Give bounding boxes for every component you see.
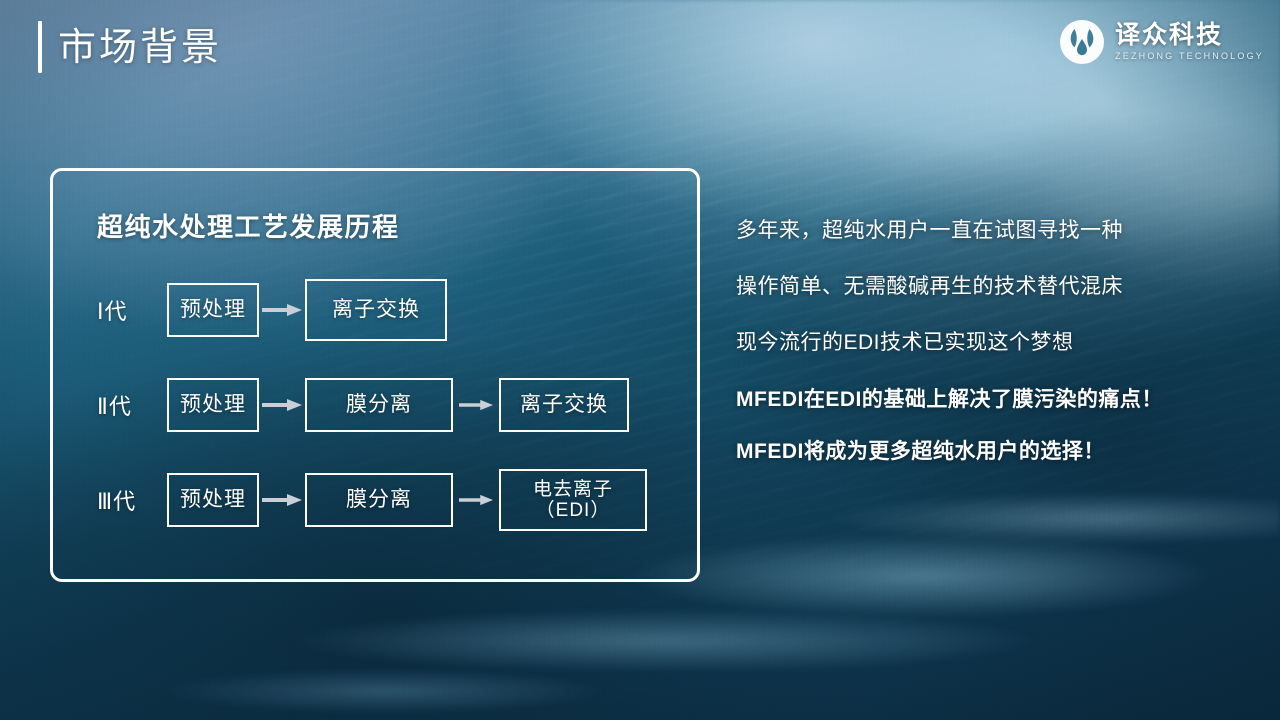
arrow-icon [259, 301, 305, 319]
logo-wordmark: 译众科技 ZEZHONG TECHNOLOGY [1115, 23, 1264, 61]
arrow-icon [259, 491, 305, 509]
company-logo: 译众科技 ZEZHONG TECHNOLOGY [1058, 18, 1264, 66]
panel-heading: 超纯水处理工艺发展历程 [97, 207, 400, 244]
page-title: 市场背景 [58, 22, 222, 74]
body-line-3: 现今流行的EDI技术已实现这个梦想 [736, 330, 1256, 355]
arrow-icon [259, 396, 305, 414]
generation-label-3: Ⅲ代 [97, 484, 167, 516]
body-text-block: 多年来，超纯水用户一直在试图寻找一种 操作简单、无需酸碱再生的技术替代混床 现今… [736, 218, 1256, 491]
node-ion-exchange-1: 离子交换 [305, 279, 447, 341]
arrow-icon [453, 491, 499, 509]
body-line-5: MFEDI将成为更多超纯水用户的选择！ [736, 439, 1256, 464]
node-pretreatment-1: 预处理 [167, 283, 259, 337]
flow-row-gen1: Ⅰ代 预处理 离子交换 [53, 275, 697, 345]
process-history-panel: 超纯水处理工艺发展历程 Ⅰ代 预处理 离子交换 Ⅱ代 预处理 膜分离 [50, 168, 700, 582]
node-electrodeionization-3: 电去离子 （EDI） [499, 469, 647, 531]
flow-row-gen3: Ⅲ代 预处理 膜分离 电去离子 （EDI） [53, 465, 697, 535]
generation-label-1: Ⅰ代 [97, 294, 167, 326]
node-membrane-separation-2: 膜分离 [305, 378, 453, 432]
node-pretreatment-2: 预处理 [167, 378, 259, 432]
body-line-4: MFEDI在EDI的基础上解决了膜污染的痛点！ [736, 387, 1256, 412]
logo-name-cn: 译众科技 [1115, 23, 1264, 48]
title-accent-bar [38, 21, 42, 73]
node-pretreatment-3: 预处理 [167, 473, 259, 527]
arrow-icon [453, 396, 499, 414]
node-membrane-separation-3: 膜分离 [305, 473, 453, 527]
generation-label-2: Ⅱ代 [97, 389, 167, 421]
logo-name-en: ZEZHONG TECHNOLOGY [1115, 52, 1264, 61]
flow-rows: Ⅰ代 预处理 离子交换 Ⅱ代 预处理 膜分离 离子交换 [53, 275, 697, 560]
body-line-1: 多年来，超纯水用户一直在试图寻找一种 [736, 218, 1256, 243]
water-drop-leaf-emblem-icon [1058, 18, 1106, 66]
node-ion-exchange-2: 离子交换 [499, 378, 629, 432]
flow-row-gen2: Ⅱ代 预处理 膜分离 离子交换 [53, 370, 697, 440]
slide-market-background: 市场背景 译众科技 ZEZHONG TECHNOLOGY 超纯水处理工艺发展历程… [0, 0, 1280, 720]
body-line-2: 操作简单、无需酸碱再生的技术替代混床 [736, 274, 1256, 299]
